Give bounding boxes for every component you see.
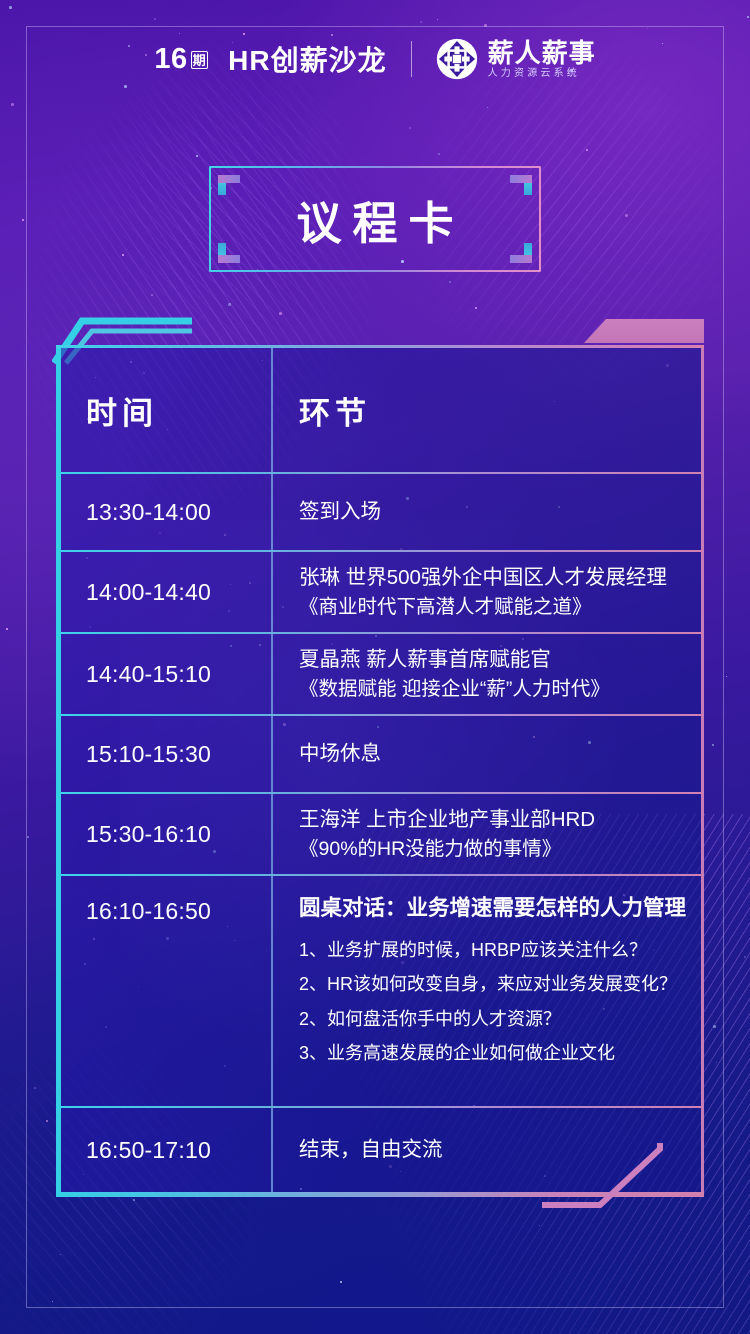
session-line: 《商业时代下高潜人才赋能之道》	[299, 593, 687, 623]
four-arrows-circle-logo-icon	[436, 38, 478, 80]
brand-text-block: 薪人薪事 人力资源云系统	[488, 40, 596, 79]
table-row-roundtable: 16:10-16:50 圆桌对话：业务增速需要怎样的人力管理 1、业务扩展的时候…	[61, 874, 701, 1106]
table-header-row: 时间 环节	[61, 348, 701, 472]
table-row: 16:50-17:10 结束，自由交流	[61, 1106, 701, 1192]
column-header-session: 环节	[273, 348, 701, 472]
agenda-table-wrapper: 时间 环节 13:30-14:00 签到入场 14:00-14:40 张琳 世界…	[56, 345, 704, 1197]
event-title: HR创薪沙龙	[228, 39, 386, 79]
column-header-time: 时间	[61, 348, 273, 472]
roundtable-item: 3、业务高速发展的企业如何做企业文化	[299, 1036, 687, 1070]
session-line: 《90%的HR没能力做的事情》	[299, 835, 687, 865]
poster-header: 16 期 HR创薪沙龙	[0, 38, 750, 80]
issue-badge: 16 期	[154, 43, 208, 76]
issue-unit-badge: 期	[191, 51, 209, 69]
row-session: 王海洋 上市企业地产事业部HRD 《90%的HR没能力做的事情》	[273, 794, 701, 874]
angled-block-top-right-decoration	[584, 319, 704, 343]
roundtable-heading: 圆桌对话：业务增速需要怎样的人力管理	[299, 892, 687, 924]
row-time: 14:00-14:40	[61, 552, 273, 632]
row-session: 张琳 世界500强外企中国区人才发展经理 《商业时代下高潜人才赋能之道》	[273, 552, 701, 632]
row-time: 16:10-16:50	[61, 876, 273, 1106]
row-time: 14:40-15:10	[61, 634, 273, 714]
issue-number: 16	[154, 43, 187, 76]
row-session: 结束，自由交流	[273, 1108, 701, 1192]
vertical-divider-icon	[411, 41, 412, 77]
table-row: 14:40-15:10 夏晶燕 薪人薪事首席赋能官 《数据赋能 迎接企业“薪”人…	[61, 632, 701, 714]
roundtable-item: 2、如何盘活你手中的人才资源？	[299, 1002, 687, 1036]
session-line: 中场休息	[299, 738, 687, 769]
row-time: 16:50-17:10	[61, 1108, 273, 1192]
brand-lockup: 薪人薪事 人力资源云系统	[436, 38, 596, 80]
table-row: 15:30-16:10 王海洋 上市企业地产事业部HRD 《90%的HR没能力做…	[61, 792, 701, 874]
roundtable-item: 2、HR该如何改变自身，来应对业务发展变化？	[299, 967, 687, 1001]
table-row: 13:30-14:00 签到入场	[61, 472, 701, 550]
title-card: 议程卡	[209, 166, 541, 272]
table-row: 15:10-15:30 中场休息	[61, 714, 701, 792]
roundtable-item: 1、业务扩展的时候，HRBP应该关注什么？	[299, 933, 687, 967]
agenda-table-body: 时间 环节 13:30-14:00 签到入场 14:00-14:40 张琳 世界…	[56, 348, 704, 1192]
row-time: 15:30-16:10	[61, 794, 273, 874]
agenda-table-bottom-edge	[56, 1192, 704, 1197]
session-line: 《数据赋能 迎接企业“薪”人力时代》	[299, 675, 687, 705]
session-line: 签到入场	[299, 496, 687, 527]
session-line: 王海洋 上市企业地产事业部HRD	[299, 804, 687, 835]
brand-tagline: 人力资源云系统	[488, 69, 596, 79]
agenda-poster: 16 期 HR创薪沙龙	[0, 0, 750, 1334]
row-time: 13:30-14:00	[61, 474, 273, 550]
brand-name: 薪人薪事	[488, 40, 596, 66]
session-line: 夏晶燕 薪人薪事首席赋能官	[299, 644, 687, 675]
row-time: 15:10-15:30	[61, 716, 273, 792]
page-title: 议程卡	[209, 166, 541, 272]
session-line: 张琳 世界500强外企中国区人才发展经理	[299, 562, 687, 593]
table-row: 14:00-14:40 张琳 世界500强外企中国区人才发展经理 《商业时代下高…	[61, 550, 701, 632]
row-session: 中场休息	[273, 716, 701, 792]
row-session: 圆桌对话：业务增速需要怎样的人力管理 1、业务扩展的时候，HRBP应该关注什么？…	[273, 876, 701, 1106]
row-session: 夏晶燕 薪人薪事首席赋能官 《数据赋能 迎接企业“薪”人力时代》	[273, 634, 701, 714]
agenda-table: 时间 环节 13:30-14:00 签到入场 14:00-14:40 张琳 世界…	[56, 345, 704, 1197]
row-session: 签到入场	[273, 474, 701, 550]
session-line: 结束，自由交流	[299, 1134, 687, 1165]
